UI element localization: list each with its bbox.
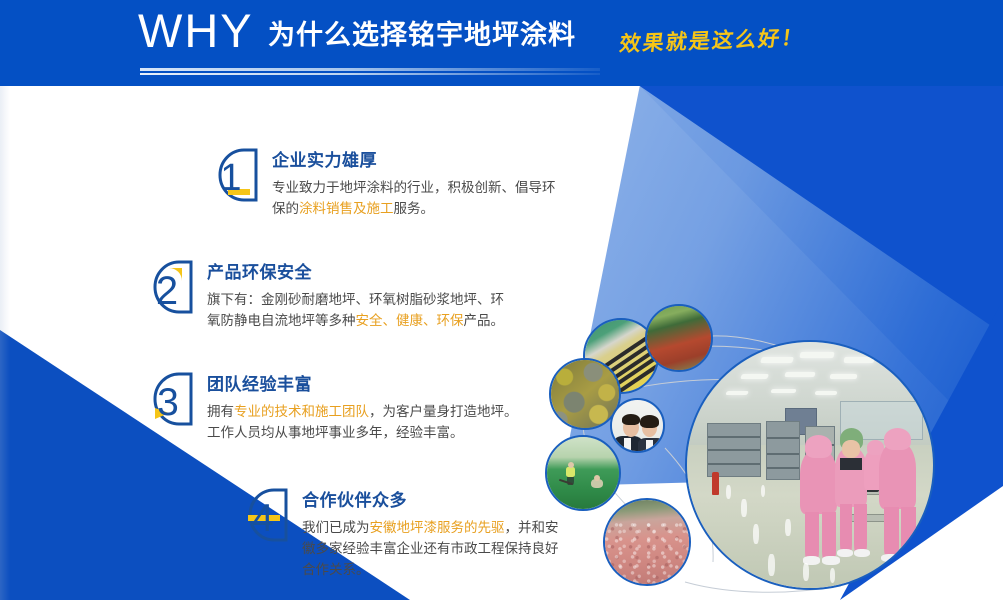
feature-text-3: 团队经验丰富 拥有专业的技术和施工团队，为客户量身打造地坪。工作人员均从事地坪事… — [207, 370, 527, 444]
svg-text:4: 4 — [252, 497, 274, 540]
feature-text-4: 合作伙伴众多 我们已成为安徽地坪漆服务的先驱，并和安徽多家经验丰富企业还有市政工… — [302, 486, 564, 581]
photo-collage — [545, 300, 945, 600]
feature-title-4: 合作伙伴众多 — [302, 490, 564, 512]
feature-title-1: 企业实力雄厚 — [272, 150, 564, 172]
svg-text:2: 2 — [156, 269, 178, 313]
body-phrase: 我们已成为 — [302, 520, 370, 536]
feature-item-4: 4 合作伙伴众多 我们已成为安徽地坪漆服务的先驱，并和安徽多家经验丰富企业还有市… — [230, 486, 564, 581]
cleanroom-workers-photo — [685, 340, 935, 590]
feature-title-3: 团队经验丰富 — [207, 374, 527, 396]
svg-text:1: 1 — [220, 157, 241, 199]
highlighted-phrase: 安徽地坪漆服务的先驱 — [370, 520, 505, 536]
body-phrase: 产品。 — [464, 313, 505, 329]
header-why-label: WHY — [138, 6, 254, 56]
highlighted-phrase: 安全、健康、环保 — [356, 313, 464, 329]
body-phrase: 拥有 — [207, 404, 234, 420]
number-badge-4: 4 — [230, 486, 294, 544]
feature-body-2: 旗下有：金刚砂耐磨地坪、环氧树脂砂浆地坪、环氧防静电自流地坪等多种安全、健康、环… — [207, 290, 517, 332]
feature-item-2: 2 产品环保安全 旗下有：金刚砂耐磨地坪、环氧树脂砂浆地坪、环氧防静电自流地坪等… — [135, 258, 517, 332]
banner-header: WHY 为什么选择铭宇地坪涂料 效果就是这么好！ — [0, 0, 1003, 86]
header-divider-line-lower — [140, 73, 600, 75]
feature-body-1: 专业致力于地坪涂料的行业，积极创新、倡导环保的涂料销售及施工服务。 — [272, 178, 564, 220]
feature-body-3: 拥有专业的技术和施工团队，为客户量身打造地坪。工作人员均从事地坪事业多年，经验丰… — [207, 402, 527, 444]
why-choose-us-banner: WHY 为什么选择铭宇地坪涂料 效果就是这么好！ 1 企业实力雄厚 专业致力于地… — [0, 0, 1003, 600]
highlighted-phrase: 涂料销售及施工 — [299, 201, 394, 217]
feature-text-2: 产品环保安全 旗下有：金刚砂耐磨地坪、环氧树脂砂浆地坪、环氧防静电自流地坪等多种… — [207, 258, 517, 332]
feature-body-4: 我们已成为安徽地坪漆服务的先驱，并和安徽多家经验丰富企业还有市政工程保持良好合作… — [302, 518, 564, 581]
feature-item-3: 3 团队经验丰富 拥有专业的技术和施工团队，为客户量身打造地坪。工作人员均从事地… — [135, 370, 527, 444]
feature-text-1: 企业实力雄厚 专业致力于地坪涂料的行业，积极创新、倡导环保的涂料销售及施工服务。 — [272, 146, 564, 220]
number-badge-3: 3 — [135, 370, 199, 428]
header-divider-line-upper — [140, 68, 600, 71]
pink-running-track-photo — [603, 498, 691, 586]
feature-title-2: 产品环保安全 — [207, 262, 517, 284]
number-badge-2: 2 — [135, 258, 199, 316]
header-script-tagline: 效果就是这么好！ — [618, 25, 806, 57]
number-badge-1: 1 — [200, 146, 264, 204]
header-headline: 为什么选择铭宇地坪涂料 — [268, 20, 576, 52]
svg-text:3: 3 — [157, 381, 179, 424]
feature-item-1: 1 企业实力雄厚 专业致力于地坪涂料的行业，积极创新、倡导环保的涂料销售及施工服… — [200, 146, 564, 220]
body-phrase: 服务。 — [394, 201, 435, 217]
highlighted-phrase: 专业的技术和施工团队 — [234, 404, 369, 420]
decor-left-edge-shadow — [0, 86, 10, 600]
